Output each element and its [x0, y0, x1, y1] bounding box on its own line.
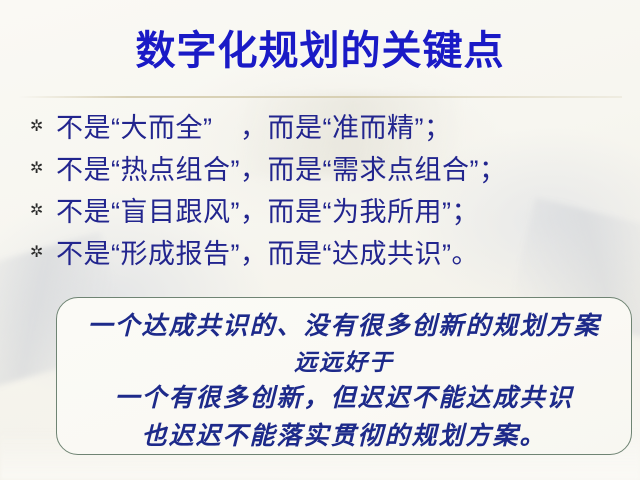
highlight-quote-box: 一个达成共识的、没有很多创新的规划方案 远远好于 一个有很多创新，但迟迟不能达成…: [56, 297, 632, 455]
title-divider: [18, 96, 622, 98]
quote-line: 一个达成共识的、没有很多创新的规划方案: [69, 308, 619, 346]
list-item-label: 不是“盲目跟风”，而是“为我所用”；: [56, 190, 479, 229]
list-item: ✲ 不是“形成报告”，而是“达成共识”。: [30, 230, 630, 272]
slide-title: 数字化规划的关键点: [0, 26, 640, 76]
asterisk-bullet-icon: ✲: [30, 115, 56, 135]
asterisk-bullet-icon: ✲: [30, 157, 56, 177]
list-item: ✲ 不是“大而全” ，而是“准而精”；: [30, 104, 630, 146]
asterisk-bullet-icon: ✲: [30, 241, 56, 261]
list-item-label: 不是“大而全” ，而是“准而精”；: [56, 106, 451, 145]
list-item: ✲ 不是“盲目跟风”，而是“为我所用”；: [30, 188, 630, 230]
list-item-label: 不是“形成报告”，而是“达成共识”。: [56, 232, 479, 271]
quote-line: 也迟迟不能落实贯彻的规划方案。: [69, 418, 619, 455]
quote-line: 一个有很多创新，但迟迟不能达成共识: [69, 380, 619, 418]
slide-canvas: 数字化规划的关键点 ✲ 不是“大而全” ，而是“准而精”； ✲ 不是“热点组合”…: [0, 0, 640, 480]
quote-line: 远远好于: [69, 346, 619, 380]
bullet-list: ✲ 不是“大而全” ，而是“准而精”； ✲ 不是“热点组合”，而是“需求点组合”…: [30, 104, 630, 272]
asterisk-bullet-icon: ✲: [30, 199, 56, 219]
list-item: ✲ 不是“热点组合”，而是“需求点组合”；: [30, 146, 630, 188]
list-item-label: 不是“热点组合”，而是“需求点组合”；: [56, 148, 506, 187]
